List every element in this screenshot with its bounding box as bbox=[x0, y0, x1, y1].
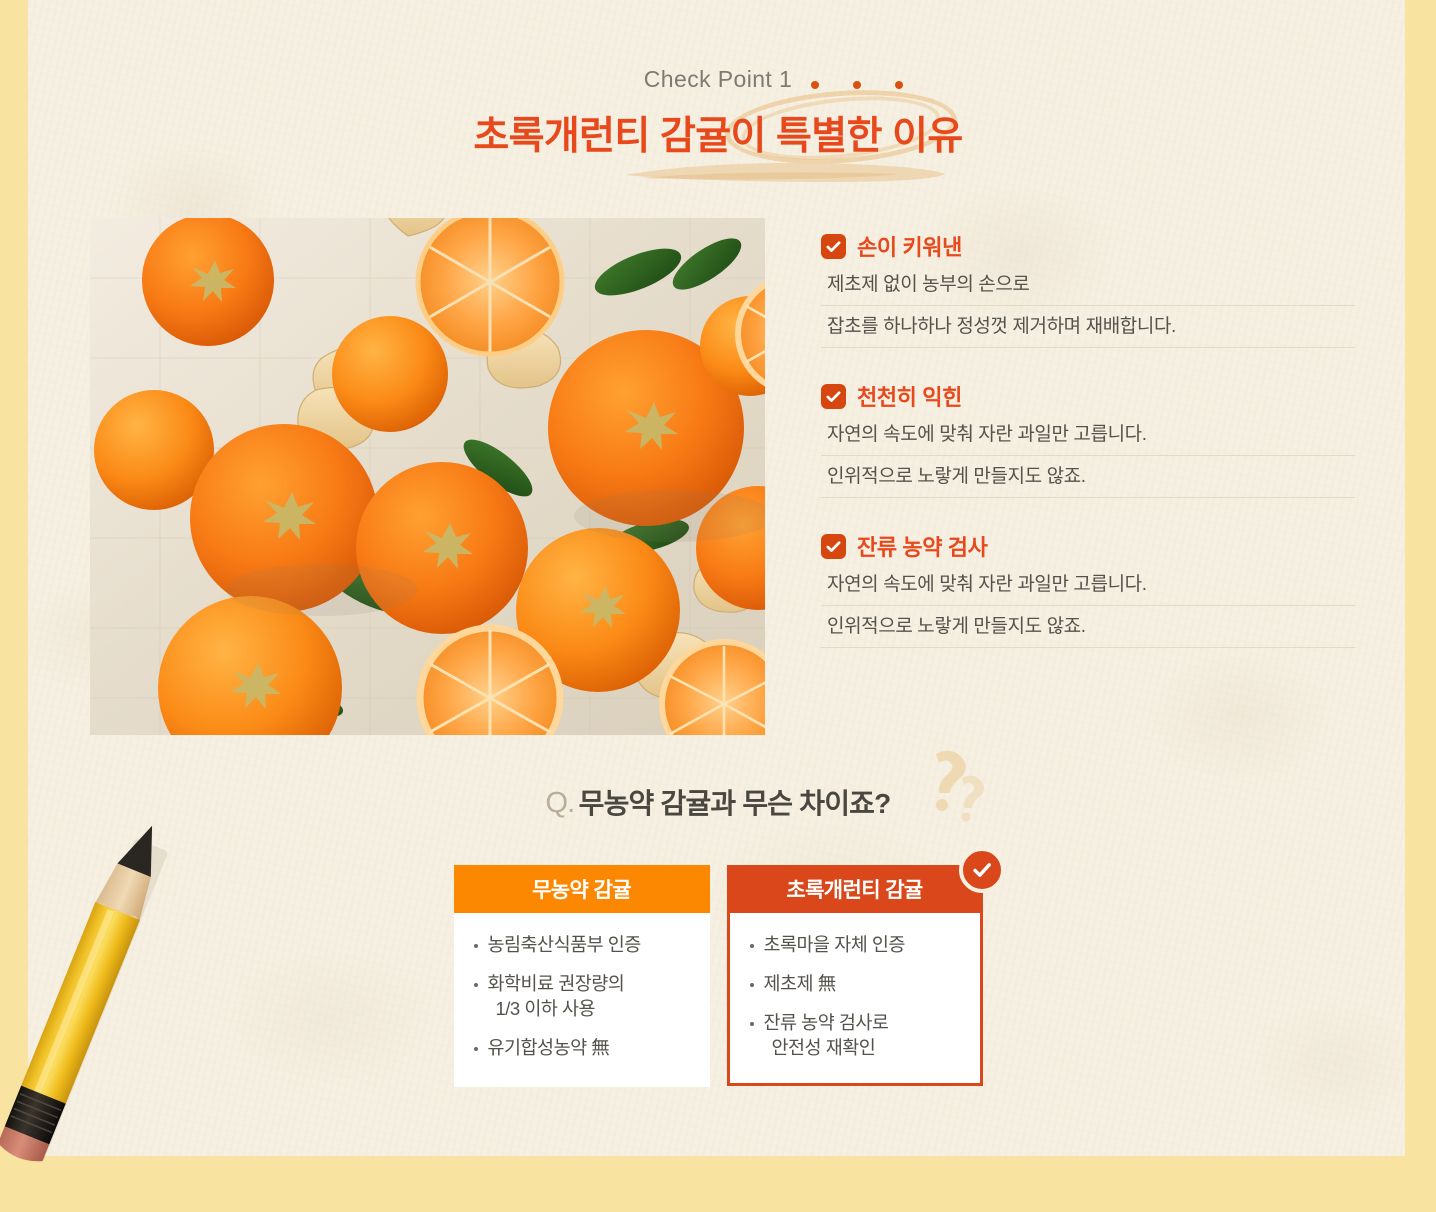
compare-list-item-continuation: 안전성 재확인 bbox=[764, 1036, 964, 1061]
checklist-item-head: 천천히 익힌 bbox=[821, 380, 1355, 412]
compare-card-chorok-guarantee: 초록개런티 감귤 초록마을 자체 인증 제초제 無 잔류 농약 검사로 안전성 … bbox=[727, 865, 983, 1087]
page-title-wrap: 초록개런티 감귤이 특별한 이유 bbox=[473, 105, 962, 161]
compare-card-heading: 무농약 감귤 bbox=[454, 865, 710, 913]
question-heading: Q. 무농약 감귤과 무슨 차이죠? bbox=[546, 782, 891, 822]
checklist-item: 손이 키워낸 제초제 없이 농부의 손으로 잡초를 하나하나 정성껏 제거하며 … bbox=[821, 230, 1355, 348]
compare-list-item-text: 제초제 無 bbox=[764, 973, 836, 994]
compare-list-item-text: 유기합성농약 無 bbox=[488, 1037, 610, 1058]
question-section: Q. 무농약 감귤과 무슨 차이죠? bbox=[0, 782, 1436, 822]
mandarin-oranges-photo bbox=[90, 218, 765, 735]
checklist-item-title: 천천히 익힌 bbox=[857, 380, 962, 412]
checklist-item-line: 자연의 속도에 맞춰 자란 과일만 고릅니다. bbox=[821, 575, 1355, 606]
question-marks-icon bbox=[902, 748, 986, 824]
checkbox-checked-icon bbox=[821, 534, 846, 559]
compare-card-heading: 초록개런티 감귤 bbox=[727, 865, 983, 913]
compare-card-body: 초록마을 자체 인증 제초제 無 잔류 농약 검사로 안전성 재확인 bbox=[727, 913, 983, 1086]
hero-section: 손이 키워낸 제초제 없이 농부의 손으로 잡초를 하나하나 정성껏 제거하며 … bbox=[90, 218, 1355, 738]
compare-list-item: 잔류 농약 검사로 안전성 재확인 bbox=[746, 1011, 964, 1061]
checklist-item-head: 잔류 농약 검사 bbox=[821, 530, 1355, 562]
compare-card-muhongyak: 무농약 감귤 농림축산식품부 인증 화학비료 권장량의 1/3 이하 사용 유기… bbox=[454, 865, 710, 1087]
checkbox-checked-icon bbox=[821, 384, 846, 409]
compare-list-item-text: 초록마을 자체 인증 bbox=[764, 934, 905, 955]
checklist-item-line: 잡초를 하나하나 정성껏 제거하며 재배합니다. bbox=[821, 317, 1355, 348]
compare-list-item-text: 화학비료 권장량의 bbox=[488, 973, 625, 994]
compare-list-item: 제초제 無 bbox=[746, 972, 964, 997]
check-circle-icon bbox=[959, 847, 1005, 893]
compare-list-item: 농림축산식품부 인증 bbox=[470, 933, 694, 958]
compare-list-item: 초록마을 자체 인증 bbox=[746, 933, 964, 958]
compare-list-item-text: 농림축산식품부 인증 bbox=[488, 934, 641, 955]
comparison-cards: 무농약 감귤 농림축산식품부 인증 화학비료 권장량의 1/3 이하 사용 유기… bbox=[0, 865, 1436, 1087]
compare-list-item-continuation: 1/3 이하 사용 bbox=[488, 997, 694, 1022]
title-dots-icon bbox=[811, 81, 903, 89]
checklist-item-title: 손이 키워낸 bbox=[857, 230, 962, 262]
checklist-item-line: 인위적으로 노랗게 만들지도 않죠. bbox=[821, 467, 1355, 498]
checkbox-checked-icon bbox=[821, 234, 846, 259]
checklist-item-line: 인위적으로 노랗게 만들지도 않죠. bbox=[821, 617, 1355, 648]
checklist: 손이 키워낸 제초제 없이 농부의 손으로 잡초를 하나하나 정성껏 제거하며 … bbox=[821, 218, 1355, 738]
header: Check Point 1 초록개런티 감귤이 특별한 이유 bbox=[0, 66, 1436, 161]
checklist-item-line: 자연의 속도에 맞춰 자란 과일만 고릅니다. bbox=[821, 425, 1355, 456]
brush-underline-icon bbox=[619, 161, 949, 183]
page-title: 초록개런티 감귤이 특별한 이유 bbox=[473, 105, 962, 161]
question-prefix: Q. bbox=[546, 787, 575, 819]
compare-list-item-text: 잔류 농약 검사로 bbox=[764, 1012, 889, 1033]
check-point-kicker: Check Point 1 bbox=[0, 66, 1436, 93]
compare-list-item: 화학비료 권장량의 1/3 이하 사용 bbox=[470, 972, 694, 1022]
checklist-item: 잔류 농약 검사 자연의 속도에 맞춰 자란 과일만 고릅니다. 인위적으로 노… bbox=[821, 530, 1355, 648]
checklist-item: 천천히 익힌 자연의 속도에 맞춰 자란 과일만 고릅니다. 인위적으로 노랗게… bbox=[821, 380, 1355, 498]
compare-list-item: 유기합성농약 無 bbox=[470, 1036, 694, 1061]
compare-card-body: 농림축산식품부 인증 화학비료 권장량의 1/3 이하 사용 유기합성농약 無 bbox=[454, 913, 710, 1087]
checklist-item-title: 잔류 농약 검사 bbox=[857, 530, 987, 562]
page-root: Check Point 1 초록개런티 감귤이 특별한 이유 bbox=[0, 0, 1436, 1212]
checklist-item-head: 손이 키워낸 bbox=[821, 230, 1355, 262]
checklist-item-line: 제초제 없이 농부의 손으로 bbox=[821, 275, 1355, 306]
question-text: 무농약 감귤과 무슨 차이죠? bbox=[579, 788, 891, 819]
